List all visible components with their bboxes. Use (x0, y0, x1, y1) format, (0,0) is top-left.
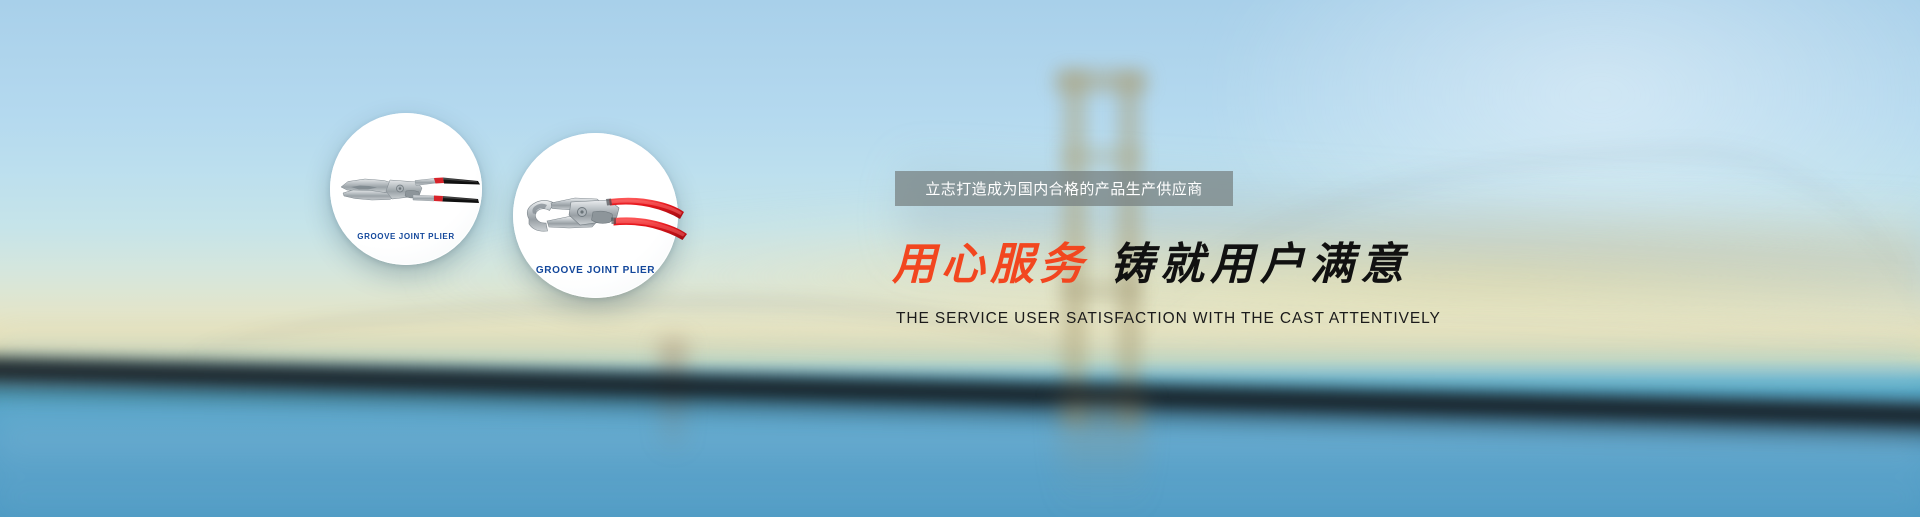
english-subtitle: THE SERVICE USER SATISFACTION WITH THE C… (896, 310, 1441, 328)
groove-joint-plier-red-icon (521, 185, 691, 241)
groove-joint-plier-black-icon (336, 165, 486, 213)
headline-dark-text: 铸就用户满意 (1110, 243, 1410, 287)
headline-red-text: 用心服务 (892, 243, 1088, 287)
product-circle-1[interactable]: GROOVE JOINT PLIER (330, 113, 482, 265)
product-circle-2[interactable]: GROOVE JOINT PLIER (513, 133, 678, 298)
water-reflections (0, 330, 1920, 517)
headline: 用心服务 铸就用户满意 (892, 243, 1410, 287)
product-label-2: GROOVE JOINT PLIER (513, 265, 678, 276)
slogan-badge: 立志打造成为国内合格的产品生产供应商 (895, 171, 1233, 206)
slogan-badge-text: 立志打造成为国内合格的产品生产供应商 (925, 178, 1202, 199)
product-label-1: GROOVE JOINT PLIER (330, 232, 482, 241)
promo-banner: GROOVE JOINT PLIER (0, 0, 1920, 517)
